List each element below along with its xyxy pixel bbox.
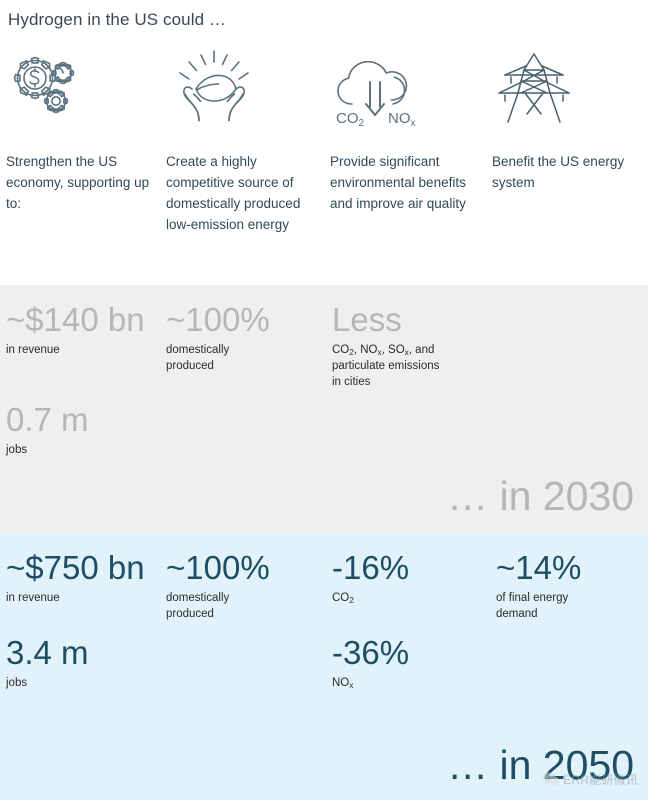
stat-nox-2050: -36% NOx (332, 634, 409, 691)
stat-label: domestically produced (166, 587, 270, 622)
stat-value: ~100% (166, 549, 270, 587)
stat-value: ~100% (166, 301, 270, 339)
stat-revenue-2030: ~$140 bn in revenue (6, 301, 145, 358)
stat-label: CO2, NOx, SOx, andparticulate emissionsi… (332, 339, 512, 390)
stat-domestic-2050: ~100% domestically produced (166, 549, 270, 622)
stat-label: jobs (6, 439, 89, 458)
stat-jobs-2030: 0.7 m jobs (6, 401, 89, 458)
pillar-caption: Provide significant environmental benefi… (330, 138, 480, 214)
stat-label: jobs (6, 672, 89, 691)
stat-label: domestically produced (166, 339, 270, 374)
gears-dollar-icon (6, 38, 170, 138)
pillar-energy-system: Benefit the US energy system (492, 38, 648, 193)
pillars-section: Strengthen the US economy, supporting up… (0, 38, 648, 285)
stat-value: -16% (332, 549, 409, 587)
stat-value: 0.7 m (6, 401, 89, 439)
stat-value: ~14% (496, 549, 581, 587)
stat-value: -36% (332, 634, 409, 672)
pillar-environment: CO2 NOx Provide significant environmenta… (330, 38, 494, 214)
transmission-tower-icon (492, 38, 648, 138)
nox-label: NOx (388, 110, 416, 129)
hands-leaf-icon (166, 38, 330, 138)
stat-energy-demand-2050: ~14% of final energy demand (496, 549, 581, 622)
stat-value: Less (332, 301, 512, 339)
cloud-emissions-icon: CO2 NOx (330, 38, 494, 138)
stat-label: NOx (332, 672, 409, 691)
page-title: Hydrogen in the US could … (8, 8, 648, 32)
stat-revenue-2050: ~$750 bn in revenue (6, 549, 145, 606)
stat-domestic-2030: ~100% domestically produced (166, 301, 270, 374)
pillar-energy-source: Create a highly competitive source of do… (166, 38, 330, 235)
co2-label: CO2 (336, 110, 365, 129)
stat-label: of final energy demand (496, 587, 581, 622)
stats-band-2030: ~$140 bn in revenue ~100% domestically p… (0, 285, 648, 533)
pillar-caption: Benefit the US energy system (492, 138, 642, 193)
pillar-caption: Strengthen the US economy, supporting up… (6, 138, 156, 214)
pillar-economy: Strengthen the US economy, supporting up… (6, 38, 170, 214)
stat-label: in revenue (6, 339, 145, 358)
stat-value: 3.4 m (6, 634, 89, 672)
pillar-caption: Create a highly competitive source of do… (166, 138, 316, 235)
stat-jobs-2050: 3.4 m jobs (6, 634, 89, 691)
stat-emissions-2030: Less CO2, NOx, SOx, andparticulate emiss… (332, 301, 512, 390)
stat-co2-2050: -16% CO2 (332, 549, 409, 606)
year-tag-2050: … in 2050 (447, 742, 634, 788)
stat-label: in revenue (6, 587, 145, 606)
year-tag-2030: … in 2030 (447, 473, 634, 519)
stat-value: ~$140 bn (6, 301, 145, 339)
stat-label: CO2 (332, 587, 409, 606)
stats-band-2050: ~$750 bn in revenue ~100% domestically p… (0, 533, 648, 800)
header: Hydrogen in the US could … (0, 0, 648, 38)
stat-value: ~$750 bn (6, 549, 145, 587)
